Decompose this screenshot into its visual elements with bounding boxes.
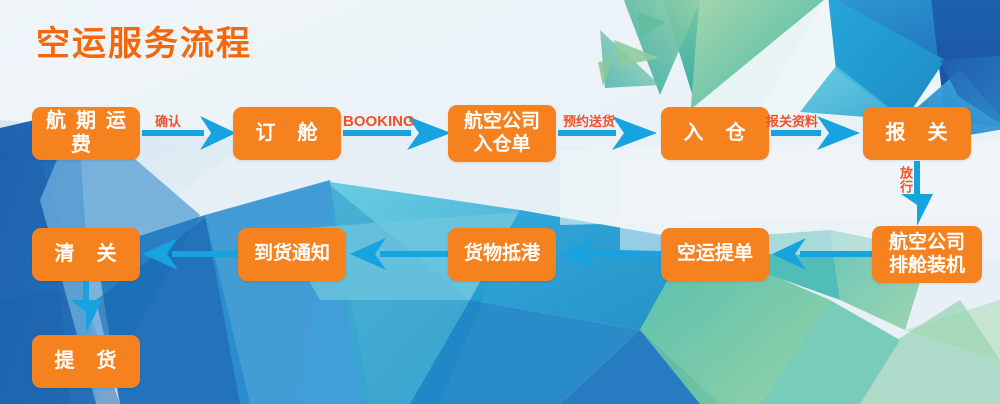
flow-box-cargo-arrival[interactable]: 货物抵港 bbox=[448, 228, 556, 281]
flow-box-airline-warehouse-order[interactable]: 航空公司 入仓单 bbox=[448, 105, 556, 162]
air-freight-process-infographic: 空运服务流程 航期运费 订 舱 航空公司 入仓单 入 仓 报 关 航空公司 排舱… bbox=[0, 0, 1000, 404]
flow-box-customs-declaration[interactable]: 报 关 bbox=[863, 107, 971, 160]
flow-box-warehouse-in[interactable]: 入 仓 bbox=[661, 107, 769, 160]
flow-box-label: 订 舱 bbox=[256, 122, 319, 146]
flow-box-label: 提 货 bbox=[55, 350, 118, 374]
flow-box-label: 入 仓 bbox=[684, 122, 747, 146]
flow-box-label: 到货通知 bbox=[254, 243, 330, 265]
flow-box-air-freight-rate[interactable]: 航期运费 bbox=[32, 107, 140, 160]
arrow-label-delivery-appointment: 预约送货 bbox=[563, 111, 615, 130]
arrow-label-release: 放行 bbox=[899, 166, 912, 194]
flow-box-pickup[interactable]: 提 货 bbox=[32, 335, 140, 388]
flow-box-label: 航空公司 入仓单 bbox=[464, 111, 540, 156]
arrow-label-declaration-documents: 报关资料 bbox=[766, 111, 818, 130]
flow-box-customs-clearance[interactable]: 清 关 bbox=[32, 228, 140, 281]
arrow-label-booking: BOOKING bbox=[343, 113, 415, 130]
flow-box-label: 清 关 bbox=[55, 243, 118, 267]
flow-box-label: 航期运费 bbox=[32, 110, 140, 157]
flow-box-airline-loading[interactable]: 航空公司 排舱装机 bbox=[872, 226, 982, 283]
flow-box-label: 空运提单 bbox=[677, 243, 753, 265]
flow-box-booking[interactable]: 订 舱 bbox=[233, 107, 341, 160]
flow-box-arrival-notice[interactable]: 到货通知 bbox=[238, 228, 346, 281]
flow-box-label: 报 关 bbox=[886, 122, 949, 146]
flow-box-label: 货物抵港 bbox=[464, 243, 540, 265]
flow-box-air-waybill[interactable]: 空运提单 bbox=[661, 228, 769, 281]
arrow-label-confirm: 确认 bbox=[155, 111, 181, 130]
flow-box-label: 航空公司 排舱装机 bbox=[889, 232, 965, 277]
page-title: 空运服务流程 bbox=[36, 24, 252, 64]
